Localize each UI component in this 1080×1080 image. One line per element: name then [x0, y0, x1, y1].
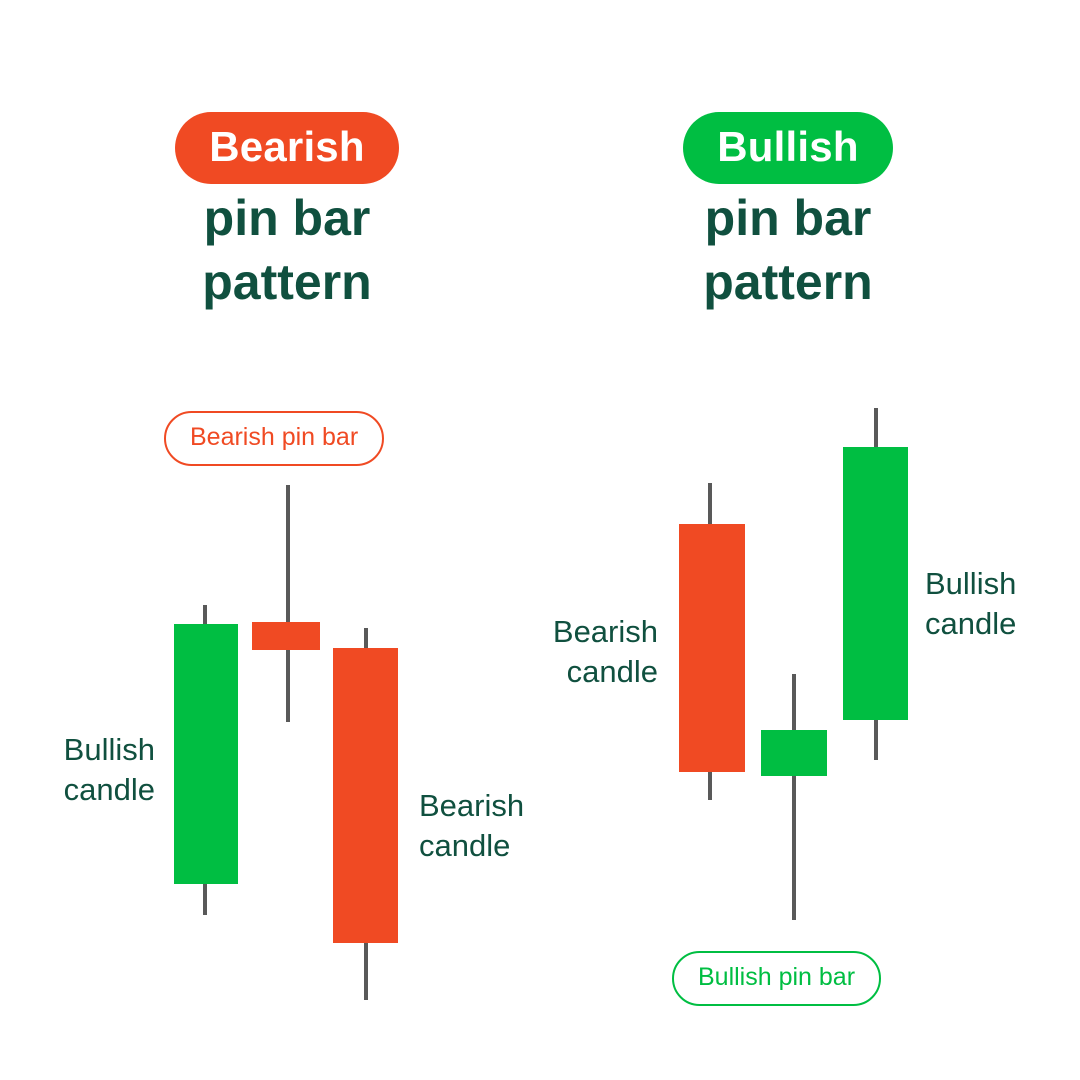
bearish-heading-line-2: pattern [52, 252, 522, 312]
candle-right-1-body [761, 730, 827, 776]
right-bearish-candle-annotation: Bearish candle [460, 612, 658, 691]
bullish-panel-heading: Bullish pin bar pattern [553, 112, 1023, 312]
bearish-pill-badge: Bearish [175, 112, 398, 184]
candle-right-0-body [679, 524, 745, 772]
bearish-pin-bar-badge: Bearish pin bar [164, 411, 384, 466]
bullish-pill-badge: Bullish [683, 112, 892, 184]
bearish-heading-line-1: pin bar [52, 188, 522, 248]
infographic-canvas: Bearish pin bar pattern Bullish pin bar … [0, 0, 1080, 1080]
candle-left-2-body [333, 648, 398, 943]
candle-left-1-body [252, 622, 320, 650]
candle-right-2-body [843, 447, 908, 720]
bullish-pin-bar-badge: Bullish pin bar [672, 951, 881, 1006]
right-bullish-candle-annotation: Bullish candle [925, 564, 1075, 643]
candle-right-1-wick [792, 674, 796, 920]
left-bearish-candle-annotation: Bearish candle [419, 786, 619, 865]
candle-left-1-wick [286, 485, 290, 722]
left-bullish-candle-annotation: Bullish candle [0, 730, 155, 809]
bullish-heading-line-2: pattern [553, 252, 1023, 312]
bullish-heading-line-1: pin bar [553, 188, 1023, 248]
candle-left-0-body [174, 624, 238, 884]
bearish-panel-heading: Bearish pin bar pattern [52, 112, 522, 312]
